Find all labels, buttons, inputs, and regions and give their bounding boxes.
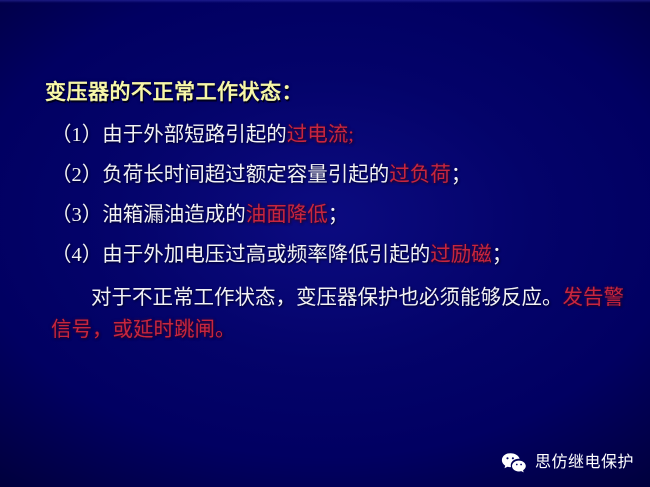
list-item: （2）负荷长时间超过额定容量引起的过负荷；: [51, 162, 471, 188]
list-item-tail: ；: [451, 164, 472, 186]
summary-paragraph: 对于不正常工作状态，变压器保护也必须能够反应。发告警信号，或延时跳闸。: [51, 282, 631, 346]
list-item-tail: ；: [492, 244, 513, 266]
list-item-tail: ；: [328, 204, 349, 226]
slide-canvas: 变压器的不正常工作状态： （1）由于外部短路引起的过电流; （2）负荷长时间超过…: [0, 0, 650, 487]
list-item-lead: （1）由于外部短路引起的: [51, 124, 287, 146]
list-item-lead: （3）油箱漏油造成的: [51, 204, 246, 226]
list-item-highlight: 过励磁: [430, 244, 492, 266]
list-item: （4）由于外加电压过高或频率降低引起的过励磁；: [51, 242, 512, 268]
list-item-lead: （2）负荷长时间超过额定容量引起的: [51, 164, 389, 186]
list-item-lead: （4）由于外加电压过高或频率降低引起的: [51, 244, 430, 266]
page-title: 变压器的不正常工作状态：: [45, 80, 303, 106]
list-item: （1）由于外部短路引起的过电流;: [51, 122, 354, 148]
list-item: （3）油箱漏油造成的油面降低；: [51, 202, 348, 228]
watermark-label: 思仿继电保护: [535, 454, 634, 472]
list-item-highlight: 过负荷: [389, 164, 451, 186]
summary-paragraph-lead: 对于不正常工作状态，变压器保护也必须能够反应。: [91, 287, 563, 309]
wechat-icon: [501, 452, 527, 474]
list-item-highlight: 过电流;: [287, 124, 354, 146]
watermark-footer: 思仿继电保护: [501, 452, 634, 474]
list-item-highlight: 油面降低: [246, 204, 328, 226]
